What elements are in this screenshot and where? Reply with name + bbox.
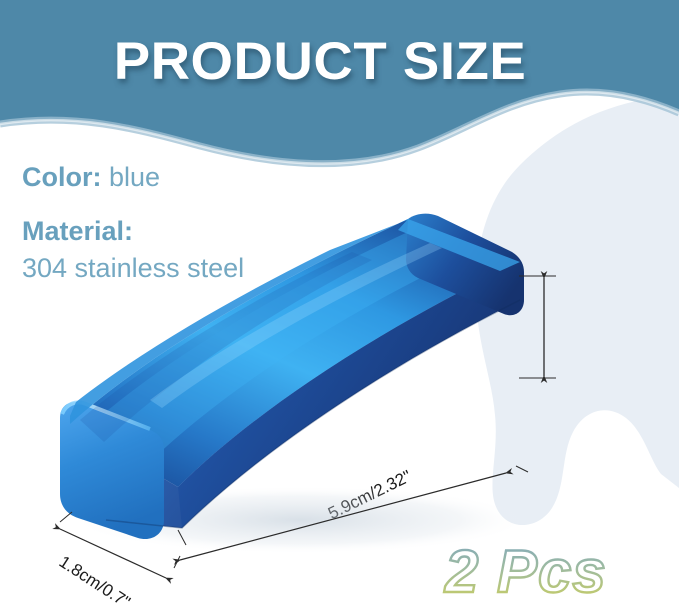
dimension-width-line bbox=[60, 512, 180, 578]
quantity-badge-text: 2 Pcs bbox=[444, 538, 607, 605]
dimension-annotations bbox=[0, 0, 679, 616]
dimension-height-line bbox=[519, 276, 556, 378]
product-size-infographic: PRODUCT SIZE Color: blue Material: 304 s… bbox=[0, 0, 679, 616]
quantity-badge: 2 Pcs bbox=[441, 534, 656, 608]
quantity-badge-art: 2 Pcs bbox=[441, 534, 656, 608]
